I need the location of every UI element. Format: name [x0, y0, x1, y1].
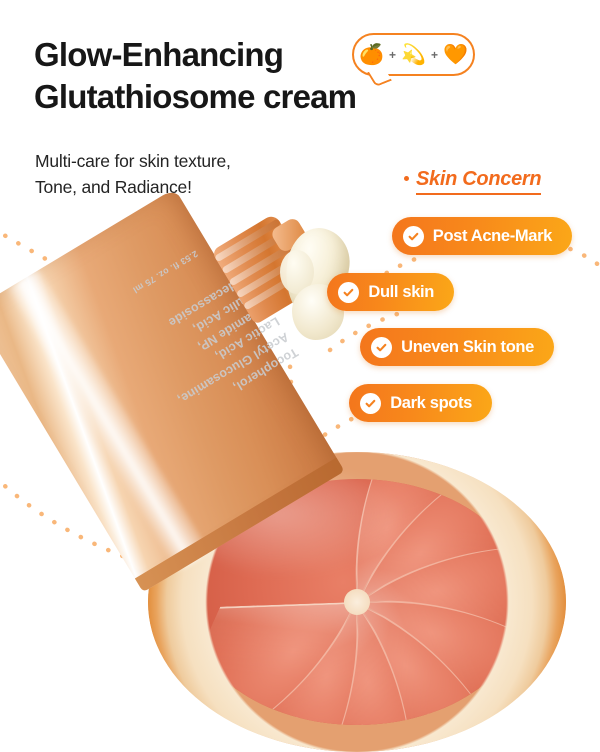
skin-concern-title: Skin Concern [416, 168, 541, 195]
concern-pill-label: Uneven Skin tone [401, 338, 534, 357]
concern-pill-uneven-skin-tone[interactable]: Uneven Skin tone [360, 328, 554, 366]
concern-pill-label: Post Acne-Mark [433, 227, 552, 246]
concern-pill-dull-skin[interactable]: Dull skin [327, 273, 454, 311]
emoji-speech-bubble: 🍊 + 💫 + 🧡 [352, 33, 475, 76]
advertisement-canvas: 2.53 fl. oz. 75 ml Tocopherol, Acetyl Gl… [0, 0, 600, 600]
subtitle: Multi-care for skin texture, Tone, and R… [35, 148, 335, 201]
headline-line-2: Glutathiosome cream [34, 78, 356, 115]
bullet-dot-icon [404, 176, 409, 181]
check-circle-icon [371, 337, 392, 358]
orange-heart-icon: 🧡 [443, 45, 468, 65]
concern-pill-label: Dull skin [368, 283, 434, 302]
tangerine-icon: 🍊 [359, 45, 384, 65]
headline-line-1: Glow-Enhancing [34, 36, 283, 73]
check-circle-icon [338, 282, 359, 303]
tube-volume-text: 2.53 fl. oz. 75 ml [131, 249, 200, 296]
page-title: Glow-Enhancing Glutathiosome cream [34, 34, 364, 118]
concern-pill-post-acne-mark[interactable]: Post Acne-Mark [392, 217, 572, 255]
check-circle-icon [360, 393, 381, 414]
check-circle-icon [403, 226, 424, 247]
sparkle-icon: 💫 [401, 45, 426, 65]
subtitle-line-1: Multi-care for skin texture, [35, 151, 231, 171]
plus-sign-2: + [431, 48, 438, 62]
concern-pill-label: Dark spots [390, 394, 472, 413]
subtitle-line-2: Tone, and Radiance! [35, 177, 192, 197]
plus-sign-1: + [389, 48, 396, 62]
concern-pill-dark-spots[interactable]: Dark spots [349, 384, 492, 422]
skin-concern-heading: Skin Concern [404, 168, 541, 195]
